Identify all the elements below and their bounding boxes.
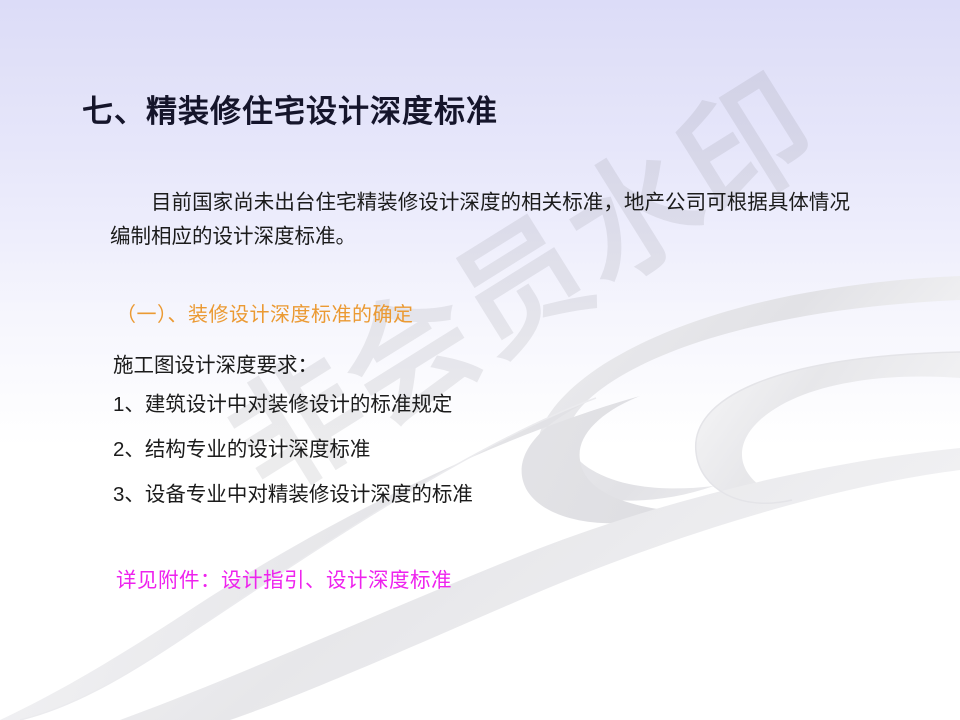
presentation-slide: 非会员水印 七、精装修住宅设计深度标准 目前国家尚未出台住宅精装修设计深度的相关… <box>0 0 960 720</box>
list-item: 2、结构专业的设计深度标准 <box>113 437 813 482</box>
list-item: 3、设备专业中对精装修设计深度的标准 <box>113 482 813 527</box>
bullet-list: 1、建筑设计中对装修设计的标准规定 2、结构专业的设计深度标准 3、设备专业中对… <box>113 392 813 527</box>
slide-content: 七、精装修住宅设计深度标准 目前国家尚未出台住宅精装修设计深度的相关标准，地产公… <box>0 0 960 720</box>
slide-title: 七、精装修住宅设计深度标准 <box>82 86 498 131</box>
footer-note: 详见附件：设计指引、设计深度标准 <box>116 563 452 593</box>
section-heading: （一）、装修设计深度标准的确定 <box>116 298 414 327</box>
intro-paragraph: 目前国家尚未出台住宅精装修设计深度的相关标准，地产公司可根据具体情况编制相应的设… <box>110 186 850 254</box>
list-lead-text: 施工图设计深度要求： <box>113 348 318 378</box>
list-item: 1、建筑设计中对装修设计的标准规定 <box>113 392 813 437</box>
